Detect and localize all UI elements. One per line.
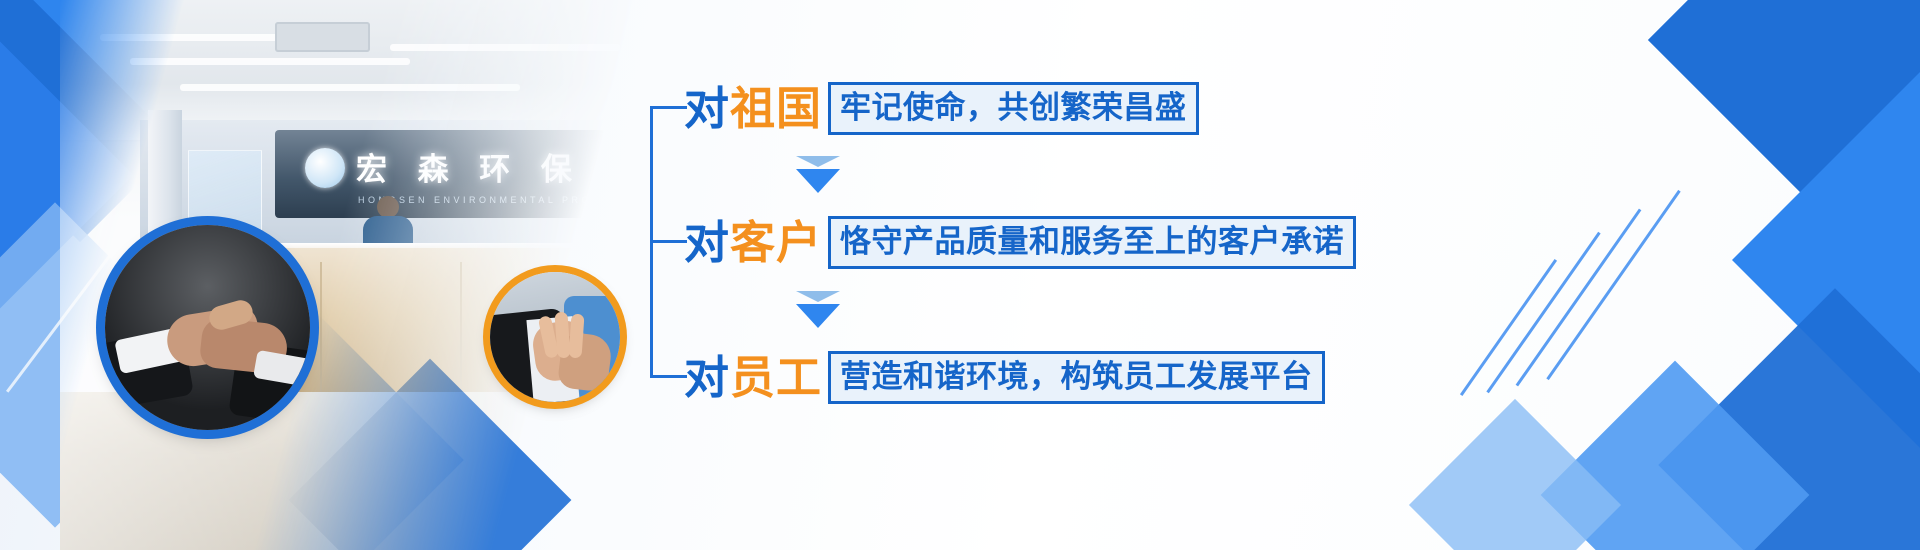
arrow-down-icon-2-light	[796, 291, 840, 302]
value-lead-prefix-2: 对	[684, 217, 730, 268]
decor-diamond-right-5	[1409, 399, 1621, 550]
value-lead-subject-1: 祖国	[730, 83, 822, 134]
value-row-1: 对祖国 牢记使命，共创繁荣昌盛	[684, 82, 1199, 135]
value-statement-1: 牢记使命，共创繁荣昌盛	[828, 82, 1199, 135]
ceiling-light-2	[130, 58, 410, 65]
ceiling-light-4	[390, 44, 620, 51]
value-statement-3: 营造和谐环境，构筑员工发展平台	[828, 351, 1325, 404]
bracket-tick-bottom	[653, 375, 687, 378]
decor-line-right-4	[1460, 259, 1557, 396]
value-lead-subject-2: 客户	[730, 217, 822, 268]
teamwork-photo-inset	[490, 272, 620, 402]
value-statement-2: 恪守产品质量和服务至上的客户承诺	[828, 216, 1356, 269]
counter-seam-2	[460, 262, 462, 394]
staff-head	[377, 196, 399, 218]
value-lead-subject-3: 员工	[730, 352, 822, 403]
company-values-banner: 宏 森 环 保 HONGSEN ENVIRONMENTAL PROTECTION	[0, 0, 1920, 550]
handshake-photo-inset	[105, 225, 310, 430]
values-list: 对祖国 牢记使命，共创繁荣昌盛 对客户 恪守产品质量和服务至上的客户承诺 对员工…	[650, 70, 1350, 400]
decor-line-right-3	[1486, 232, 1600, 393]
value-row-3: 对员工 营造和谐环境，构筑员工发展平台	[684, 351, 1325, 404]
arrow-down-icon-1	[796, 169, 840, 193]
bracket-tick-middle	[653, 240, 687, 243]
ceiling-light-3	[180, 84, 520, 91]
value-lead-3: 对员工	[684, 352, 822, 404]
ceiling-vent	[275, 22, 370, 52]
decor-line-right-2	[1516, 209, 1642, 387]
value-lead-2: 对客户	[684, 217, 822, 269]
value-lead-1: 对祖国	[684, 83, 822, 135]
value-lead-prefix-1: 对	[684, 83, 730, 134]
decor-line-right-1	[1546, 190, 1680, 380]
counter-seam-1	[320, 262, 322, 394]
company-name-text: 宏 森 环 保	[356, 150, 586, 190]
bracket-tick-top	[653, 106, 687, 109]
arrow-down-icon-1-light	[796, 156, 840, 167]
arrow-down-icon-2	[796, 304, 840, 328]
bracket-connector	[650, 106, 687, 378]
company-logo-icon	[305, 148, 345, 188]
ceiling-light-1	[100, 34, 300, 41]
value-lead-prefix-3: 对	[684, 352, 730, 403]
value-row-2: 对客户 恪守产品质量和服务至上的客户承诺	[684, 216, 1356, 269]
